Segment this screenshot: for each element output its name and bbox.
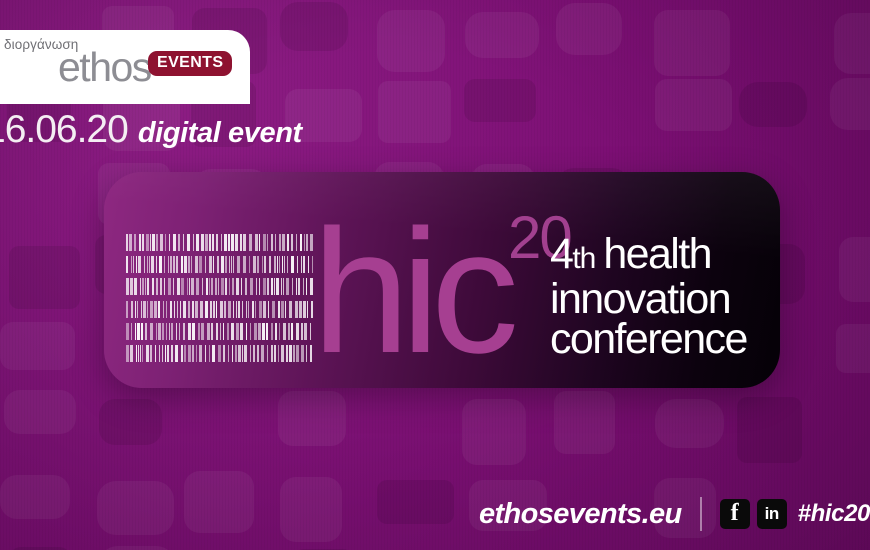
footer-bar: ethosevents.eu f in #hic20 <box>0 492 870 536</box>
barcode-row <box>126 323 314 340</box>
barcode-row <box>126 256 314 273</box>
conference-ordinal-suffix: th <box>572 242 595 275</box>
conference-ordinal-number: 4 <box>550 230 572 278</box>
website-url[interactable]: ethosevents.eu <box>479 498 682 531</box>
event-date-line: 16.06.20 digital event <box>0 110 302 149</box>
ethos-wordmark: ethos <box>58 47 151 88</box>
conference-title-block: 4thhealth innovation conference <box>550 234 747 359</box>
linkedin-icon[interactable]: in <box>757 499 787 529</box>
organizer-logo-card: διοργάνωση ethos EVENTS <box>0 30 250 104</box>
barcode-row <box>126 345 314 362</box>
conference-title-line-2: innovation <box>550 279 747 319</box>
conference-title-line-1: 4thhealth <box>550 234 747 279</box>
event-format-label: digital event <box>138 119 302 148</box>
barcode-row <box>126 278 314 295</box>
events-badge: EVENTS <box>148 51 232 76</box>
poster-canvas: διοργάνωση ethos EVENTS 16.06.20 digital… <box>0 0 870 550</box>
barcode-graphic <box>126 234 314 362</box>
footer-divider <box>700 497 702 531</box>
facebook-icon[interactable]: f <box>720 499 750 529</box>
conference-title-line-3: conference <box>550 319 747 359</box>
event-hashtag: #hic20 <box>798 500 870 528</box>
hic-wordmark: hic <box>312 204 510 380</box>
conference-title-word-health: health <box>603 230 711 278</box>
hero-banner-panel: hic 20 4thhealth innovation conference <box>104 172 780 388</box>
barcode-row <box>126 234 314 251</box>
barcode-row <box>126 301 314 318</box>
event-date-text: 16.06.20 <box>0 110 128 149</box>
